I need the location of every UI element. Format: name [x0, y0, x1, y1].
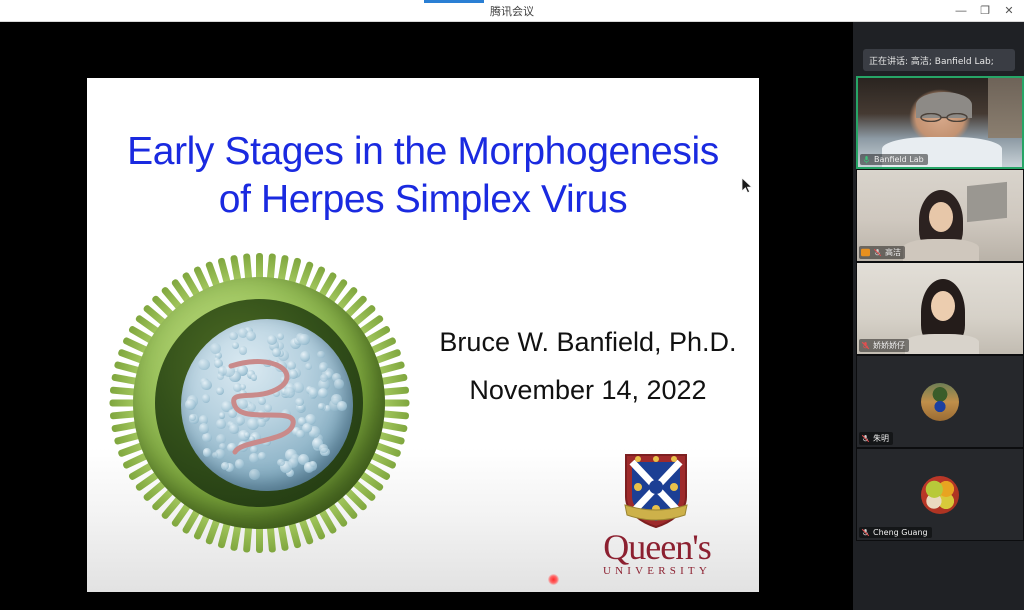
virus-capsomer — [334, 379, 344, 389]
host-badge-icon — [861, 248, 870, 257]
participant-tile-4[interactable]: 朱明 — [856, 355, 1024, 448]
slide-title-line-1: Early Stages in the Morphogenesis — [87, 128, 759, 176]
participant-label-2: 高洁 — [859, 246, 905, 259]
video-background-1 — [988, 78, 1022, 138]
virus-capsomer — [189, 414, 196, 421]
participant-name-1: Banfield Lab — [874, 155, 924, 164]
participant-name-3: 娇娇娇仔 — [873, 340, 905, 351]
virus-capsomer — [337, 401, 347, 411]
participant-name-2: 高洁 — [885, 247, 901, 258]
participant-label-5: Cheng Guang — [859, 527, 932, 538]
active-speaker-indicator: 正在讲话: 高洁; Banfield Lab; — [863, 49, 1015, 71]
queens-university-logo: Queen's UNIVERSITY — [567, 453, 747, 581]
participant-face-2 — [929, 202, 953, 232]
mic-on-icon — [862, 155, 871, 164]
window-controls: — ❐ ✕ — [950, 0, 1020, 22]
slide-title: Early Stages in the Morphogenesis of Her… — [87, 128, 759, 224]
participant-name-5: Cheng Guang — [873, 528, 928, 537]
queens-crest-icon — [623, 453, 689, 529]
laser-pointer-dot — [548, 574, 559, 585]
slide-title-line-2: of Herpes Simplex Virus — [87, 176, 759, 224]
participant-label-3: 娇娇娇仔 — [859, 339, 909, 352]
virus-dna-genome — [205, 348, 327, 466]
window-title: 腾讯会议 — [0, 3, 1024, 19]
mic-muted-icon — [861, 341, 870, 350]
virus-capsomer — [298, 334, 309, 345]
virus-capsomer — [246, 331, 256, 341]
slide-presenter-block: Bruce W. Banfield, Ph.D. November 14, 20… — [417, 318, 759, 414]
virus-capsomer — [229, 332, 237, 340]
participant-video-tiles: Banfield Lab 高洁 — [856, 76, 1024, 541]
virus-capsomer — [249, 469, 260, 480]
mic-muted-icon — [873, 248, 882, 257]
window-titlebar: 腾讯会议 — ❐ ✕ — [0, 0, 1024, 22]
video-background-2 — [967, 182, 1007, 222]
close-button[interactable]: ✕ — [998, 2, 1020, 20]
minimize-button[interactable]: — — [950, 2, 972, 20]
participant-tile-1[interactable]: Banfield Lab — [856, 76, 1024, 169]
participant-avatar-4 — [921, 383, 959, 421]
participant-name-4: 朱明 — [873, 433, 889, 444]
mic-muted-icon — [861, 434, 870, 443]
participant-body-2 — [903, 239, 979, 261]
mouse-cursor — [741, 177, 753, 195]
participant-tile-5[interactable]: Cheng Guang — [856, 448, 1024, 541]
participant-tile-2[interactable]: 高洁 — [856, 169, 1024, 262]
virus-capsomer — [185, 399, 196, 410]
presentation-slide: Early Stages in the Morphogenesis of Her… — [87, 78, 759, 592]
virus-illustration — [109, 253, 409, 553]
participant-face-3 — [931, 291, 955, 321]
shared-screen-stage[interactable]: Early Stages in the Morphogenesis of Her… — [0, 22, 853, 610]
participant-label-4: 朱明 — [859, 432, 893, 445]
queens-wordmark: Queen's — [567, 529, 747, 565]
queens-university-subtext: UNIVERSITY — [567, 565, 747, 577]
virus-capsomer — [277, 333, 284, 340]
glasses-icon — [920, 113, 968, 122]
participant-body-3 — [905, 334, 979, 354]
presentation-date: November 14, 2022 — [417, 366, 759, 414]
maximize-button[interactable]: ❐ — [974, 2, 996, 20]
participant-label-1: Banfield Lab — [860, 154, 928, 165]
participant-tile-3[interactable]: 娇娇娇仔 — [856, 262, 1024, 355]
participant-avatar-5 — [921, 476, 959, 514]
active-speaker-text: 正在讲话: 高洁; Banfield Lab; — [869, 54, 994, 67]
mic-muted-icon — [861, 528, 870, 537]
presenter-name: Bruce W. Banfield, Ph.D. — [417, 318, 759, 366]
